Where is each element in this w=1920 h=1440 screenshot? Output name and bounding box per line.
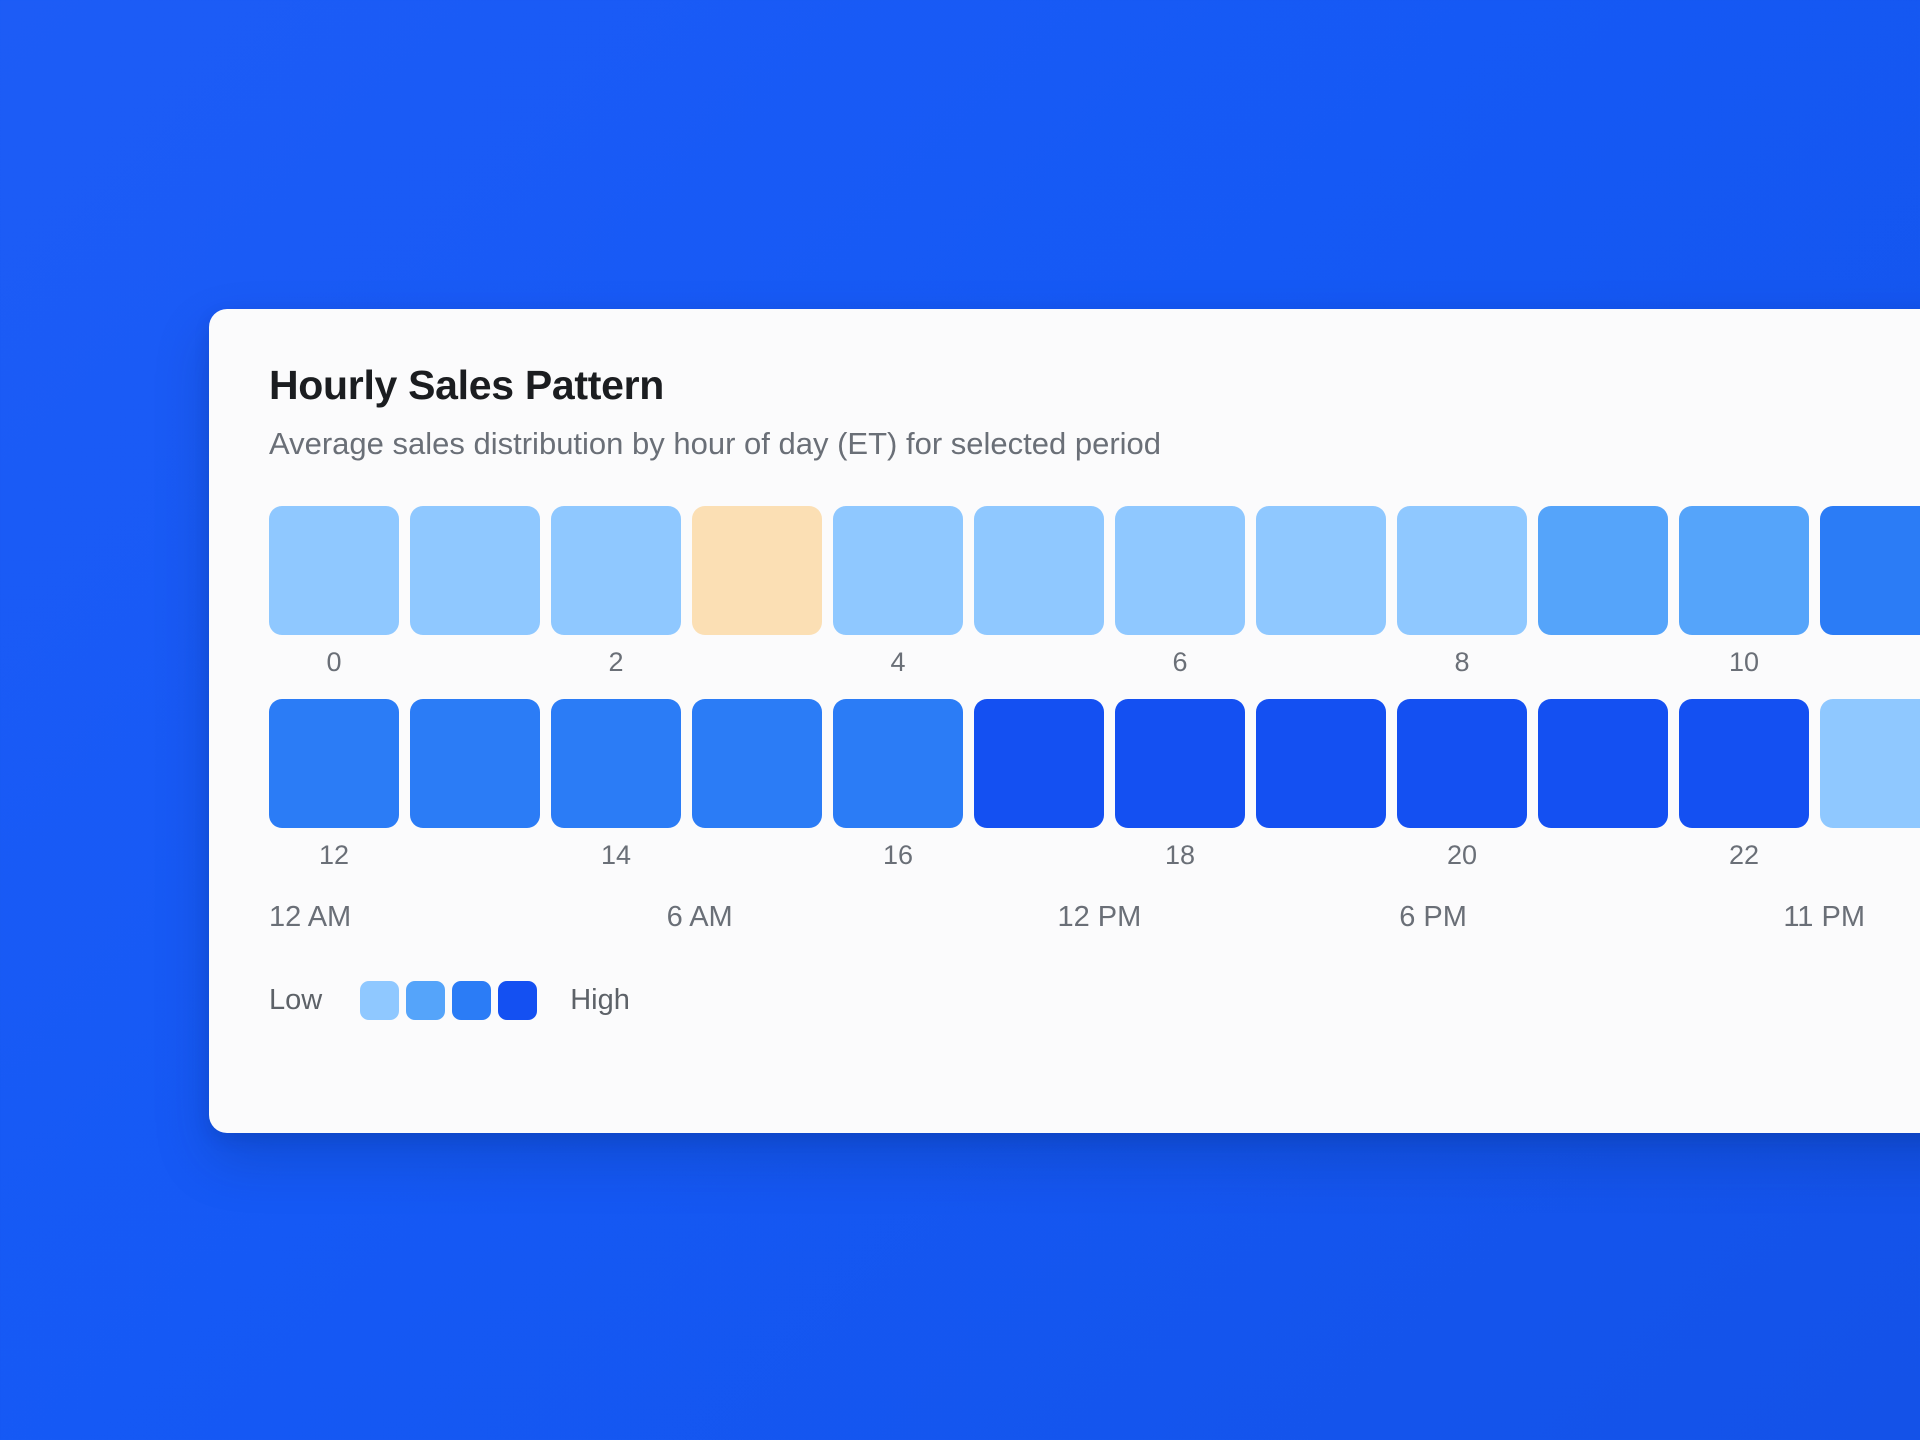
heatmap-tick-16: 16	[833, 837, 963, 875]
heatmap-cell-hour-11[interactable]	[1820, 506, 1920, 635]
heatmap-tick-blank	[692, 644, 822, 682]
legend-low-label: Low	[269, 984, 322, 1017]
time-axis-label-6-am: 6 AM	[667, 901, 733, 934]
heatmap-tick-blank	[1538, 644, 1668, 682]
heatmap-cell-hour-10[interactable]	[1679, 506, 1809, 635]
legend-high-label: High	[570, 984, 630, 1017]
heatmap-cell-hour-18[interactable]	[1115, 699, 1245, 828]
heatmap-tick-0: 0	[269, 644, 399, 682]
time-axis-label-12-pm: 12 PM	[1057, 901, 1141, 934]
heatmap-tick-blank	[410, 837, 540, 875]
heatmap-cell-hour-8[interactable]	[1397, 506, 1527, 635]
heatmap-tick-blank	[1820, 644, 1920, 682]
heatmap-tick-22: 22	[1679, 837, 1809, 875]
heatmap-tick-blank	[974, 837, 1104, 875]
heatmap-ticks-afternoon: 121416182022	[269, 837, 1920, 875]
heatmap-tick-blank	[1538, 837, 1668, 875]
heatmap-cell-hour-22[interactable]	[1679, 699, 1809, 828]
heatmap-cell-hour-2[interactable]	[551, 506, 681, 635]
heatmap-tick-6: 6	[1115, 644, 1245, 682]
heatmap-cell-hour-5[interactable]	[974, 506, 1104, 635]
heatmap-cell-hour-14[interactable]	[551, 699, 681, 828]
legend-swatch-4	[498, 981, 537, 1020]
card-header: Hourly Sales Pattern Average sales distr…	[209, 363, 1920, 462]
heatmap-cell-hour-12[interactable]	[269, 699, 399, 828]
heatmap-tick-12: 12	[269, 837, 399, 875]
card-subtitle: Average sales distribution by hour of da…	[269, 426, 1920, 462]
heatmap-cell-hour-6[interactable]	[1115, 506, 1245, 635]
heatmap-tick-blank	[974, 644, 1104, 682]
heatmap-tick-blank	[1256, 837, 1386, 875]
legend-swatch-2	[406, 981, 445, 1020]
heatmap-cell-hour-13[interactable]	[410, 699, 540, 828]
heatmap-cell-hour-0[interactable]	[269, 506, 399, 635]
heatmap-cell-hour-21[interactable]	[1538, 699, 1668, 828]
heatmap-cell-hour-4[interactable]	[833, 506, 963, 635]
legend: Low High	[269, 981, 1920, 1020]
heatmap-cell-hour-20[interactable]	[1397, 699, 1527, 828]
heatmap-tick-14: 14	[551, 837, 681, 875]
legend-swatch-3	[452, 981, 491, 1020]
heatmap-cell-hour-16[interactable]	[833, 699, 963, 828]
heatmap-tick-18: 18	[1115, 837, 1245, 875]
heatmap-tick-20: 20	[1397, 837, 1527, 875]
heatmap-tick-blank	[410, 644, 540, 682]
time-axis-label-6-pm: 6 PM	[1399, 901, 1467, 934]
heatmap-cell-hour-15[interactable]	[692, 699, 822, 828]
heatmap-tick-2: 2	[551, 644, 681, 682]
heatmap: 0246810 121416182022	[209, 506, 1920, 875]
heatmap-tick-blank	[1256, 644, 1386, 682]
time-axis-label-11-pm: 11 PM	[1783, 901, 1865, 934]
heatmap-ticks-morning: 0246810	[269, 644, 1920, 682]
heatmap-tick-blank	[692, 837, 822, 875]
heatmap-tick-8: 8	[1397, 644, 1527, 682]
heatmap-tick-blank	[1820, 837, 1920, 875]
heatmap-tick-4: 4	[833, 644, 963, 682]
time-axis: 12 AM6 AM12 PM6 PM11 PM	[269, 901, 1920, 945]
heatmap-cell-hour-19[interactable]	[1256, 699, 1386, 828]
heatmap-cell-hour-9[interactable]	[1538, 506, 1668, 635]
heatmap-row-afternoon	[269, 699, 1920, 828]
heatmap-cell-hour-1[interactable]	[410, 506, 540, 635]
heatmap-cell-hour-3[interactable]	[692, 506, 822, 635]
heatmap-cell-hour-17[interactable]	[974, 699, 1104, 828]
time-axis-label-12-am: 12 AM	[269, 901, 351, 934]
legend-swatch-1	[360, 981, 399, 1020]
heatmap-cell-hour-7[interactable]	[1256, 506, 1386, 635]
hourly-sales-pattern-card: Hourly Sales Pattern Average sales distr…	[209, 309, 1920, 1133]
legend-swatch-scale	[360, 981, 537, 1020]
heatmap-row-morning	[269, 506, 1920, 635]
heatmap-cell-hour-23[interactable]	[1820, 699, 1920, 828]
page-title: Hourly Sales Pattern	[269, 363, 1920, 407]
heatmap-tick-10: 10	[1679, 644, 1809, 682]
